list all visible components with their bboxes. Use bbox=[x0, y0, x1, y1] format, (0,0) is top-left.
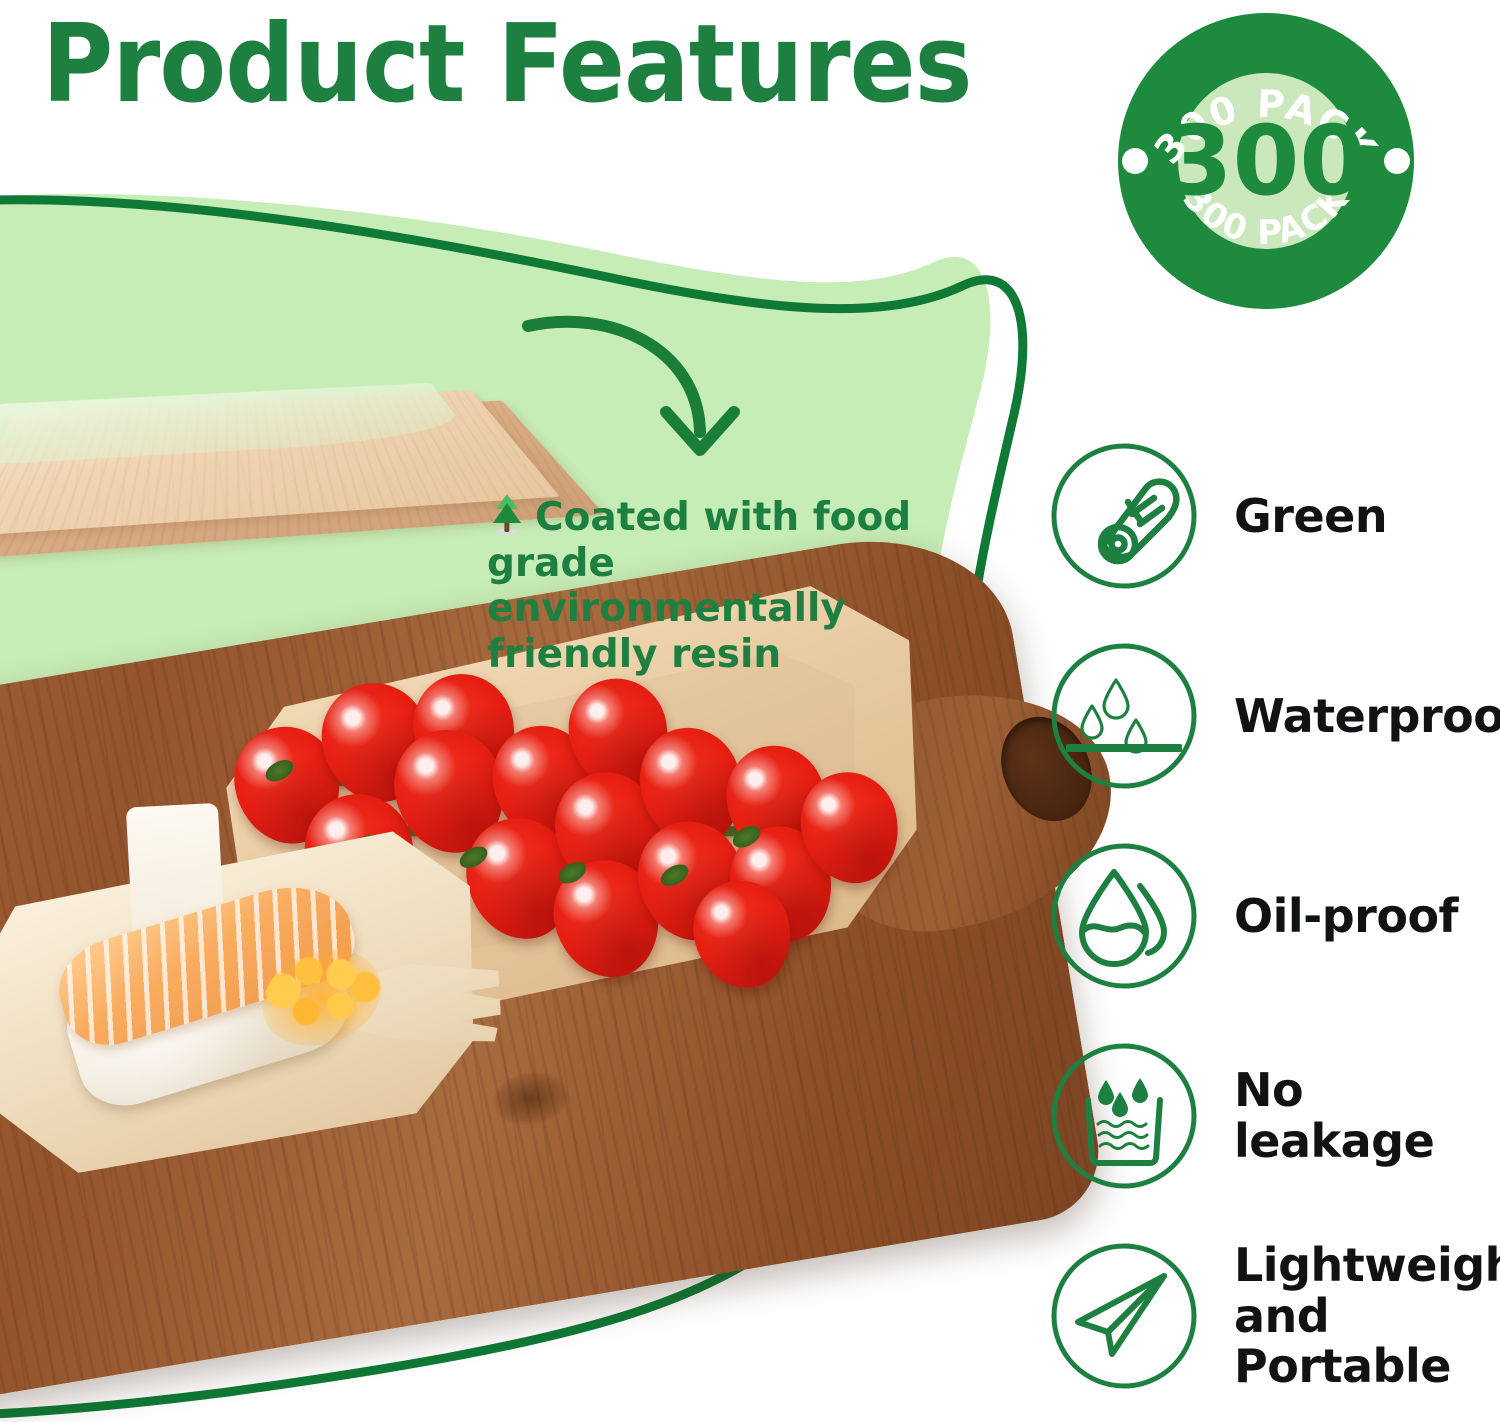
coating-callout-text: Coated with food grade environmentally f… bbox=[487, 495, 911, 677]
pack-badge: 300 PACK 300 PACK 300 bbox=[1113, 8, 1419, 314]
feature-label: Lightweight and Portable bbox=[1234, 1240, 1500, 1392]
paper-plane-icon bbox=[1048, 1240, 1200, 1392]
feature-label: Waterproof bbox=[1234, 691, 1500, 742]
feature-label: Green bbox=[1234, 491, 1387, 542]
badge-left-dot bbox=[1122, 148, 1148, 174]
feature-row-lightweight[interactable]: Lightweight and Portable bbox=[1048, 1216, 1500, 1416]
evergreen-tree-icon bbox=[487, 492, 527, 536]
feature-label: Oil-proof bbox=[1234, 891, 1458, 942]
feature-row-oilproof[interactable]: Oil-proof bbox=[1048, 816, 1500, 1016]
badge-center-value: 300 bbox=[1166, 105, 1366, 217]
no-leak-cup-icon bbox=[1048, 1040, 1200, 1192]
log-icon bbox=[1048, 440, 1200, 592]
feature-row-green[interactable]: Green bbox=[1048, 416, 1500, 616]
coating-callout: Coated with food grade environmentally f… bbox=[487, 492, 917, 678]
feature-row-noleakage[interactable]: No leakage bbox=[1048, 1016, 1500, 1216]
feature-row-waterproof[interactable]: Waterproof bbox=[1048, 616, 1500, 816]
page-title: Product Features bbox=[42, 8, 972, 121]
oil-drop-icon bbox=[1048, 840, 1200, 992]
curved-down-arrow-icon bbox=[520, 300, 760, 485]
product-photo-composition: Coated with food grade environmentally f… bbox=[0, 190, 1010, 1418]
feature-label: No leakage bbox=[1234, 1065, 1500, 1166]
water-drops-icon bbox=[1048, 640, 1200, 792]
feature-list: Green Waterproof bbox=[1048, 416, 1500, 1416]
badge-right-dot bbox=[1384, 148, 1410, 174]
